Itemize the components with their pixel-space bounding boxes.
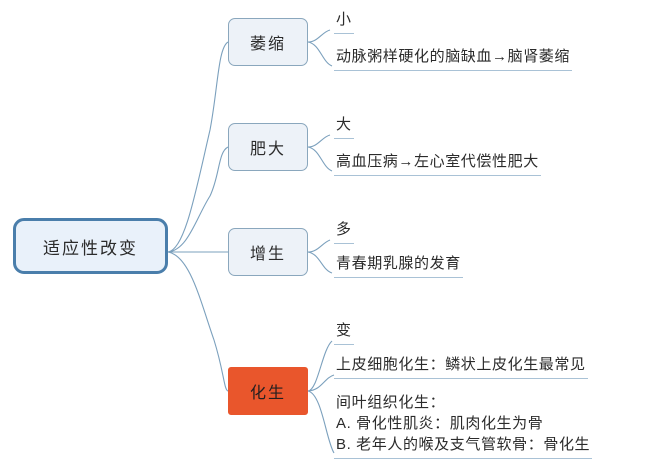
edge-hyperplasia-to-keyword [308, 240, 330, 252]
branch-node-atrophy[interactable]: 萎缩 [228, 18, 308, 66]
leaf-atrophy-detail[interactable]: 动脉粥样硬化的脑缺血→脑肾萎缩 [334, 47, 572, 71]
branch-node-hyperplasia[interactable]: 增生 [228, 228, 308, 276]
edge-root-to-atrophy [168, 42, 228, 252]
edge-hypertrophy-to-keyword [308, 135, 330, 147]
edge-atrophy-to-detail [308, 42, 332, 66]
edge-hyperplasia-to-detail [308, 252, 332, 273]
leaf-metaplasia-detail[interactable]: 上皮细胞化生：鳞状上皮化生最常见 [334, 355, 588, 379]
branch-node-hypertrophy-label: 肥大 [250, 135, 286, 159]
edge-root-to-hypertrophy [168, 147, 228, 252]
branch-node-metaplasia-label: 化生 [250, 379, 286, 403]
leaf-atrophy-keyword[interactable]: 小 [334, 10, 354, 34]
edge-metaplasia-to-detail2 [308, 391, 334, 453]
leaf-hypertrophy-keyword[interactable]: 大 [334, 115, 354, 139]
leaf-metaplasia-detail-secondary[interactable]: 间叶组织化生： A. 骨化性肌炎：肌肉化生为骨 B. 老年人的喉及支气管软骨：骨… [334, 392, 592, 459]
edge-atrophy-to-keyword [308, 30, 330, 42]
root-node-label: 适应性改变 [43, 234, 138, 259]
leaf-hyperplasia-keyword[interactable]: 多 [334, 220, 354, 244]
edge-root-to-metaplasia [168, 252, 228, 391]
mindmap-canvas: 适应性改变 萎缩 小 动脉粥样硬化的脑缺血→脑肾萎缩 肥大 大 高血压病→左心室… [0, 0, 662, 472]
edge-hypertrophy-to-detail [308, 147, 332, 171]
edge-metaplasia-to-detail [308, 375, 334, 391]
leaf-metaplasia-keyword[interactable]: 变 [334, 321, 354, 345]
branch-node-atrophy-label: 萎缩 [250, 30, 286, 54]
edge-metaplasia-to-keyword [308, 341, 332, 391]
leaf-hyperplasia-detail[interactable]: 青春期乳腺的发育 [334, 254, 463, 278]
branch-node-metaplasia[interactable]: 化生 [228, 367, 308, 415]
root-node[interactable]: 适应性改变 [13, 218, 168, 274]
branch-node-hypertrophy[interactable]: 肥大 [228, 123, 308, 171]
branch-node-hyperplasia-label: 增生 [250, 240, 286, 264]
leaf-hypertrophy-detail[interactable]: 高血压病→左心室代偿性肥大 [334, 152, 541, 176]
